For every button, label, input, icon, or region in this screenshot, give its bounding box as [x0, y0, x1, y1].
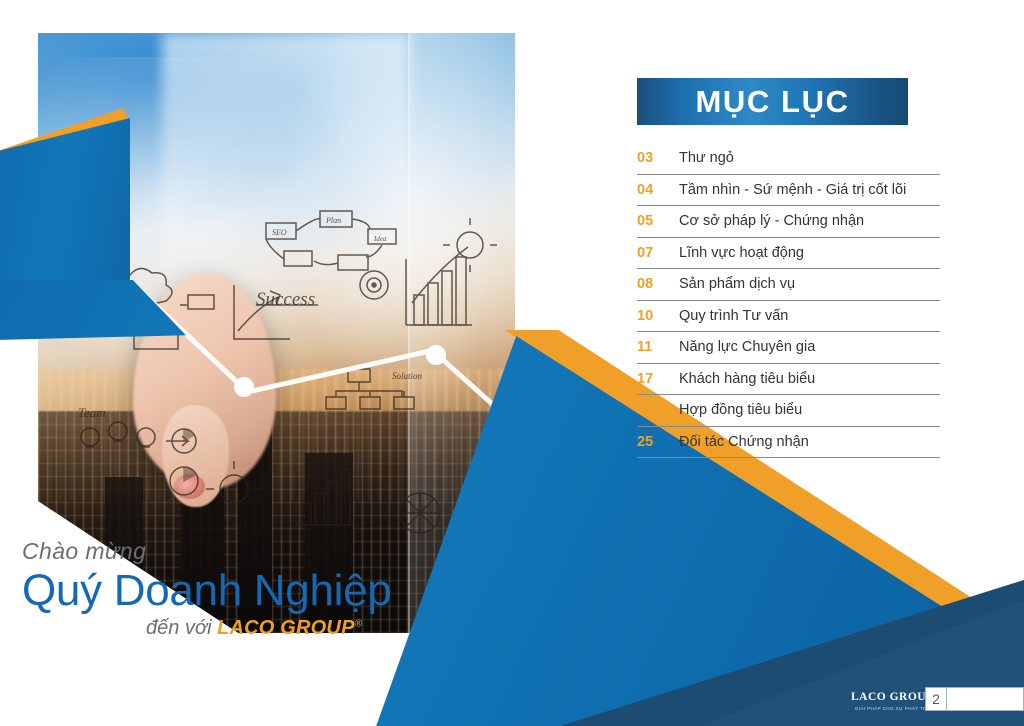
- page-number-box: 2: [925, 687, 947, 711]
- toc-entry-label: Lĩnh vực hoạt động: [679, 245, 804, 261]
- toc-entry-page: 05: [637, 213, 679, 229]
- toc-entry[interactable]: 21 Hợp đồng tiêu biểu: [637, 395, 940, 427]
- toc-entry-page: 10: [637, 308, 679, 324]
- toc-entry[interactable]: 05 Cơ sở pháp lý - Chứng nhận: [637, 206, 940, 238]
- connector-node: [234, 377, 254, 397]
- connector-node: [426, 345, 446, 365]
- toc-entry[interactable]: 07 Lĩnh vực hoạt động: [637, 238, 940, 270]
- toc-entry[interactable]: 03 Thư ngỏ: [637, 143, 940, 175]
- toc-entry-page: 17: [637, 371, 679, 387]
- toc-entry-label: Đối tác Chứng nhận: [679, 434, 809, 450]
- welcome-brand-name: LACO GROUP: [217, 617, 355, 639]
- toc-entry-page: 25: [637, 434, 679, 450]
- footer-logo-name: LACO GROUP: [851, 691, 934, 703]
- toc-entry[interactable]: 11 Năng lực Chuyên gia: [637, 332, 940, 364]
- welcome-headline: Quý Doanh Nghiệp: [22, 567, 391, 615]
- toc-banner: MỤC LỤC: [637, 78, 908, 125]
- toc-entry-label: Khách hàng tiêu biểu: [679, 371, 815, 387]
- toc-entry-label: Năng lực Chuyên gia: [679, 339, 815, 355]
- toc-entry[interactable]: 25 Đối tác Chứng nhận: [637, 427, 940, 459]
- toc-entry[interactable]: 04 Tầm nhìn - Sứ mệnh - Giá trị cốt lõi: [637, 175, 940, 207]
- welcome-subline-prefix: đến với: [146, 617, 217, 639]
- welcome-block: Chào mừng Quý Doanh Nghiệp đến với LACO …: [22, 538, 391, 640]
- toc-entry[interactable]: 08 Sản phẩm dịch vụ: [637, 269, 940, 301]
- toc-entry-label: Quy trình Tư vấn: [679, 308, 788, 324]
- brochure-page: Success Team Cloud SEO Plan Idea Solutio…: [0, 0, 1024, 726]
- welcome-subline: đến với LACO GROUP®: [22, 617, 362, 640]
- toc-entry[interactable]: 10 Quy trình Tư vấn: [637, 301, 940, 333]
- toc-entry[interactable]: 17 Khách hàng tiêu biểu: [637, 364, 940, 396]
- page-number-bar: [947, 687, 1024, 711]
- toc-banner-title: MỤC LỤC: [695, 84, 849, 120]
- toc-list: 03 Thư ngỏ 04 Tầm nhìn - Sứ mệnh - Giá t…: [637, 143, 940, 458]
- toc-entry-label: Sản phẩm dịch vụ: [679, 276, 795, 292]
- toc-entry-page: 04: [637, 182, 679, 198]
- toc-entry-page: 08: [637, 276, 679, 292]
- toc-entry-label: Hợp đồng tiêu biểu: [679, 402, 802, 418]
- welcome-greeting: Chào mừng: [22, 538, 391, 565]
- toc-entry-label: Tầm nhìn - Sứ mệnh - Giá trị cốt lõi: [679, 182, 906, 198]
- toc-entry-page: 03: [637, 150, 679, 166]
- welcome-registered-mark: ®: [355, 618, 362, 629]
- toc-entry-page: 21: [637, 402, 679, 418]
- page-number: 2: [932, 691, 940, 707]
- toc-entry-page: 07: [637, 245, 679, 261]
- toc-entry-label: Thư ngỏ: [679, 150, 734, 166]
- toc-entry-page: 11: [637, 339, 679, 355]
- toc-entry-label: Cơ sở pháp lý - Chứng nhận: [679, 213, 864, 229]
- table-of-contents: MỤC LỤC 03 Thư ngỏ 04 Tầm nhìn - Sứ mệnh…: [637, 78, 947, 458]
